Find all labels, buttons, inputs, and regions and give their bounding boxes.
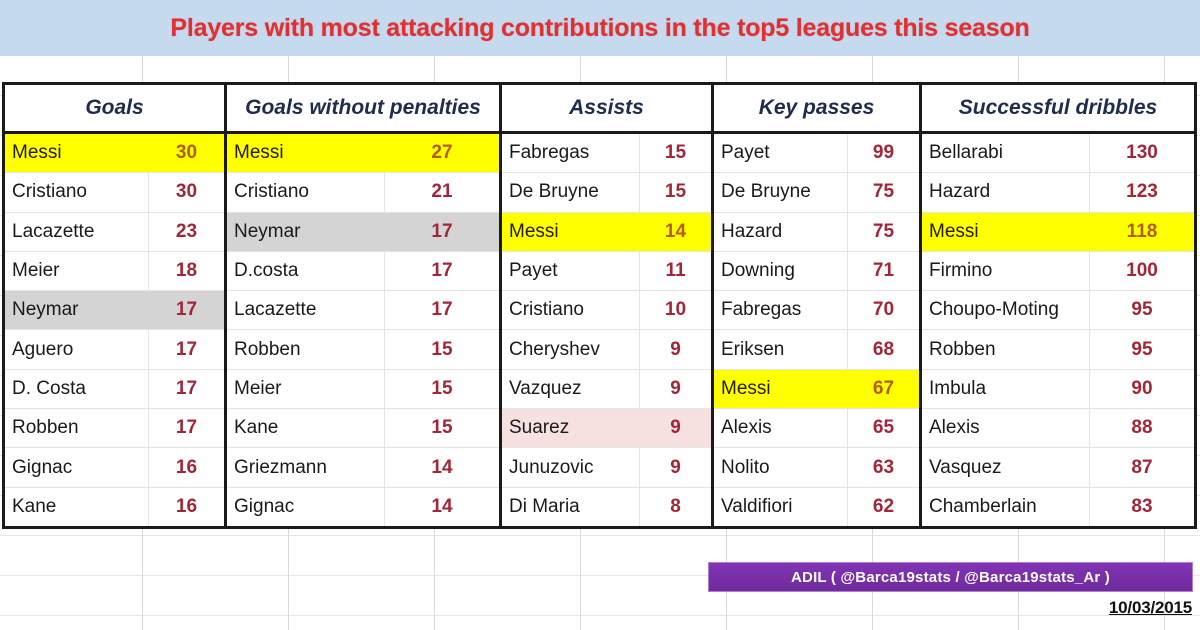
table-row[interactable]: Nolito63 [714, 448, 919, 487]
table-row[interactable]: Aguero17 [5, 330, 224, 369]
player-name: Gignac [5, 457, 148, 479]
stat-column-assists: AssistsFabregas15De Bruyne15Messi14Payet… [502, 85, 714, 526]
table-row[interactable]: Messi27 [227, 134, 499, 173]
credit-banner: ADIL ( @Barca19stats / @Barca19stats_Ar … [708, 562, 1193, 592]
player-name: Messi [922, 221, 1089, 243]
table-row[interactable]: Lacazette17 [227, 291, 499, 330]
player-name: Choupo-Moting [922, 299, 1089, 321]
table-row[interactable]: Messi30 [5, 134, 224, 173]
table-row[interactable]: Neymar17 [5, 291, 224, 330]
player-name: Neymar [5, 299, 148, 321]
stat-value: 68 [847, 330, 919, 368]
page-title: Players with most attacking contribution… [170, 14, 1029, 43]
stat-value: 14 [639, 213, 711, 251]
player-name: Meier [5, 260, 148, 282]
player-name: Cristiano [227, 181, 384, 203]
stat-value: 15 [639, 173, 711, 211]
table-row[interactable]: Cristiano30 [5, 173, 224, 212]
table-row[interactable]: Messi118 [922, 213, 1194, 252]
table-row[interactable]: Vasquez87 [922, 448, 1194, 487]
table-row[interactable]: Alexis65 [714, 409, 919, 448]
stat-value: 11 [639, 252, 711, 290]
table-row[interactable]: Meier18 [5, 252, 224, 291]
column-header-label: Goals [85, 96, 143, 120]
player-name: Lacazette [227, 299, 384, 321]
table-row[interactable]: Choupo-Moting95 [922, 291, 1194, 330]
player-name: Griezmann [227, 457, 384, 479]
table-row[interactable]: Eriksen68 [714, 330, 919, 369]
stat-value: 17 [384, 213, 499, 251]
table-row[interactable]: Alexis88 [922, 409, 1194, 448]
player-name: Aguero [5, 339, 148, 361]
table-row[interactable]: Kane16 [5, 488, 224, 526]
table-row[interactable]: Payet11 [502, 252, 711, 291]
player-name: Chamberlain [922, 496, 1089, 518]
column-body-assists: Fabregas15De Bruyne15Messi14Payet11Crist… [502, 134, 711, 526]
stat-column-successful-dribbles: Successful dribblesBellarabi130Hazard123… [922, 85, 1197, 526]
column-body-key-passes: Payet99De Bruyne75Hazard75Downing71Fabre… [714, 134, 919, 526]
player-name: Imbula [922, 378, 1089, 400]
stat-value: 30 [148, 173, 224, 211]
stat-value: 17 [384, 291, 499, 329]
table-row[interactable]: Cristiano10 [502, 291, 711, 330]
table-row[interactable]: Robben95 [922, 330, 1194, 369]
table-row[interactable]: De Bruyne75 [714, 173, 919, 212]
stat-value: 9 [639, 330, 711, 368]
column-body-goals-without-penalties: Messi27Cristiano21Neymar17D.costa17Lacaz… [227, 134, 499, 526]
stat-value: 17 [148, 370, 224, 408]
stat-value: 8 [639, 488, 711, 526]
stat-value: 27 [384, 134, 499, 172]
player-name: Fabregas [502, 142, 639, 164]
player-name: Cristiano [5, 181, 148, 203]
date-stamp: 10/03/2015 [1109, 598, 1192, 618]
player-name: Hazard [922, 181, 1089, 203]
player-name: Di Maria [502, 496, 639, 518]
table-row[interactable]: Junuzovic9 [502, 448, 711, 487]
column-header-key-passes: Key passes [714, 85, 919, 134]
stat-value: 15 [384, 409, 499, 447]
table-row[interactable]: Lacazette23 [5, 213, 224, 252]
stat-value: 17 [148, 409, 224, 447]
stats-table: GoalsMessi30Cristiano30Lacazette23Meier1… [2, 82, 1197, 529]
table-row[interactable]: Griezmann14 [227, 448, 499, 487]
credit-text: ADIL ( @Barca19stats / @Barca19stats_Ar … [791, 569, 1110, 586]
player-name: Meier [227, 378, 384, 400]
column-body-successful-dribbles: Bellarabi130Hazard123Messi118Firmino100C… [922, 134, 1194, 526]
column-header-successful-dribbles: Successful dribbles [922, 85, 1194, 134]
column-header-assists: Assists [502, 85, 711, 134]
player-name: Robben [227, 339, 384, 361]
table-row[interactable]: Hazard123 [922, 173, 1194, 212]
stat-value: 70 [847, 291, 919, 329]
stat-value: 17 [384, 252, 499, 290]
player-name: Gignac [227, 496, 384, 518]
player-name: Bellarabi [922, 142, 1089, 164]
player-name: Alexis [922, 417, 1089, 439]
player-name: Fabregas [714, 299, 847, 321]
stat-value: 9 [639, 448, 711, 486]
player-name: D. Costa [5, 378, 148, 400]
player-name: Vazquez [502, 378, 639, 400]
stat-value: 30 [148, 134, 224, 172]
table-row[interactable]: Chamberlain83 [922, 488, 1194, 526]
table-row[interactable]: Robben15 [227, 330, 499, 369]
player-name: Payet [714, 142, 847, 164]
stat-value: 17 [148, 291, 224, 329]
table-row[interactable]: Meier15 [227, 370, 499, 409]
sheet-blank-strip [0, 56, 1200, 82]
table-row[interactable]: Fabregas15 [502, 134, 711, 173]
stat-value: 71 [847, 252, 919, 290]
stat-value: 87 [1089, 448, 1194, 486]
player-name: Cristiano [502, 299, 639, 321]
player-name: Alexis [714, 417, 847, 439]
table-row[interactable]: Suarez9 [502, 409, 711, 448]
player-name: Kane [227, 417, 384, 439]
stat-value: 17 [148, 330, 224, 368]
column-header-label: Successful dribbles [959, 96, 1157, 120]
stat-value: 15 [384, 370, 499, 408]
stat-value: 65 [847, 409, 919, 447]
table-row[interactable]: Messi14 [502, 213, 711, 252]
chart-title-banner: Players with most attacking contribution… [0, 0, 1200, 56]
player-name: Firmino [922, 260, 1089, 282]
table-row[interactable]: Firmino100 [922, 252, 1194, 291]
player-name: D.costa [227, 260, 384, 282]
player-name: Robben [5, 417, 148, 439]
player-name: Eriksen [714, 339, 847, 361]
player-name: Junuzovic [502, 457, 639, 479]
table-row[interactable]: Di Maria8 [502, 488, 711, 526]
stat-value: 88 [1089, 409, 1194, 447]
stat-value: 130 [1089, 134, 1194, 172]
stat-value: 14 [384, 448, 499, 486]
stat-value: 9 [639, 409, 711, 447]
table-row[interactable]: Vazquez9 [502, 370, 711, 409]
player-name: Messi [714, 378, 847, 400]
stat-value: 18 [148, 252, 224, 290]
player-name: Messi [227, 142, 384, 164]
stat-value: 95 [1089, 291, 1194, 329]
player-name: Messi [5, 142, 148, 164]
table-row[interactable]: Hazard75 [714, 213, 919, 252]
table-row[interactable]: D. Costa17 [5, 370, 224, 409]
player-name: De Bruyne [714, 181, 847, 203]
table-row[interactable]: D.costa17 [227, 252, 499, 291]
stat-value: 9 [639, 370, 711, 408]
player-name: Messi [502, 221, 639, 243]
stat-value: 16 [148, 448, 224, 486]
player-name: Payet [502, 260, 639, 282]
table-row[interactable]: Neymar17 [227, 213, 499, 252]
table-row[interactable]: Gignac14 [227, 488, 499, 526]
table-row[interactable]: Cristiano21 [227, 173, 499, 212]
table-row[interactable]: Fabregas70 [714, 291, 919, 330]
player-name: Neymar [227, 221, 384, 243]
player-name: Hazard [714, 221, 847, 243]
table-row[interactable]: Downing71 [714, 252, 919, 291]
table-row[interactable]: Kane15 [227, 409, 499, 448]
stat-column-goals: GoalsMessi30Cristiano30Lacazette23Meier1… [2, 85, 227, 526]
player-name: De Bruyne [502, 181, 639, 203]
player-name: Downing [714, 260, 847, 282]
stat-value: 10 [639, 291, 711, 329]
stat-column-key-passes: Key passesPayet99De Bruyne75Hazard75Down… [714, 85, 922, 526]
stat-value: 99 [847, 134, 919, 172]
table-row[interactable]: Gignac16 [5, 448, 224, 487]
stat-value: 15 [639, 134, 711, 172]
stat-value: 62 [847, 488, 919, 526]
column-header-label: Key passes [759, 96, 875, 120]
stat-value: 75 [847, 213, 919, 251]
player-name: Vasquez [922, 457, 1089, 479]
table-row[interactable]: Bellarabi130 [922, 134, 1194, 173]
table-row[interactable]: Messi67 [714, 370, 919, 409]
stat-value: 118 [1089, 213, 1194, 251]
stat-value: 14 [384, 488, 499, 526]
column-header-goals-without-penalties: Goals without penalties [227, 85, 499, 134]
player-name: Lacazette [5, 221, 148, 243]
player-name: Robben [922, 339, 1089, 361]
stat-value: 95 [1089, 330, 1194, 368]
column-header-label: Goals without penalties [245, 96, 481, 120]
stat-value: 83 [1089, 488, 1194, 526]
column-body-goals: Messi30Cristiano30Lacazette23Meier18Neym… [5, 134, 224, 526]
table-row[interactable]: Cheryshev9 [502, 330, 711, 369]
table-row[interactable]: De Bruyne15 [502, 173, 711, 212]
stat-value: 15 [384, 330, 499, 368]
table-row[interactable]: Payet99 [714, 134, 919, 173]
stat-column-goals-without-penalties: Goals without penaltiesMessi27Cristiano2… [227, 85, 502, 526]
stat-value: 75 [847, 173, 919, 211]
table-row[interactable]: Imbula90 [922, 370, 1194, 409]
stat-value: 16 [148, 488, 224, 526]
stat-value: 21 [384, 173, 499, 211]
stat-value: 63 [847, 448, 919, 486]
player-name: Kane [5, 496, 148, 518]
stat-value: 90 [1089, 370, 1194, 408]
player-name: Valdifiori [714, 496, 847, 518]
stat-value: 67 [847, 370, 919, 408]
stat-value: 100 [1089, 252, 1194, 290]
player-name: Nolito [714, 457, 847, 479]
table-row[interactable]: Robben17 [5, 409, 224, 448]
stat-value: 123 [1089, 173, 1194, 211]
table-row[interactable]: Valdifiori62 [714, 488, 919, 526]
player-name: Cheryshev [502, 339, 639, 361]
column-header-label: Assists [569, 96, 644, 120]
column-header-goals: Goals [5, 85, 224, 134]
stat-value: 23 [148, 213, 224, 251]
player-name: Suarez [502, 417, 639, 439]
